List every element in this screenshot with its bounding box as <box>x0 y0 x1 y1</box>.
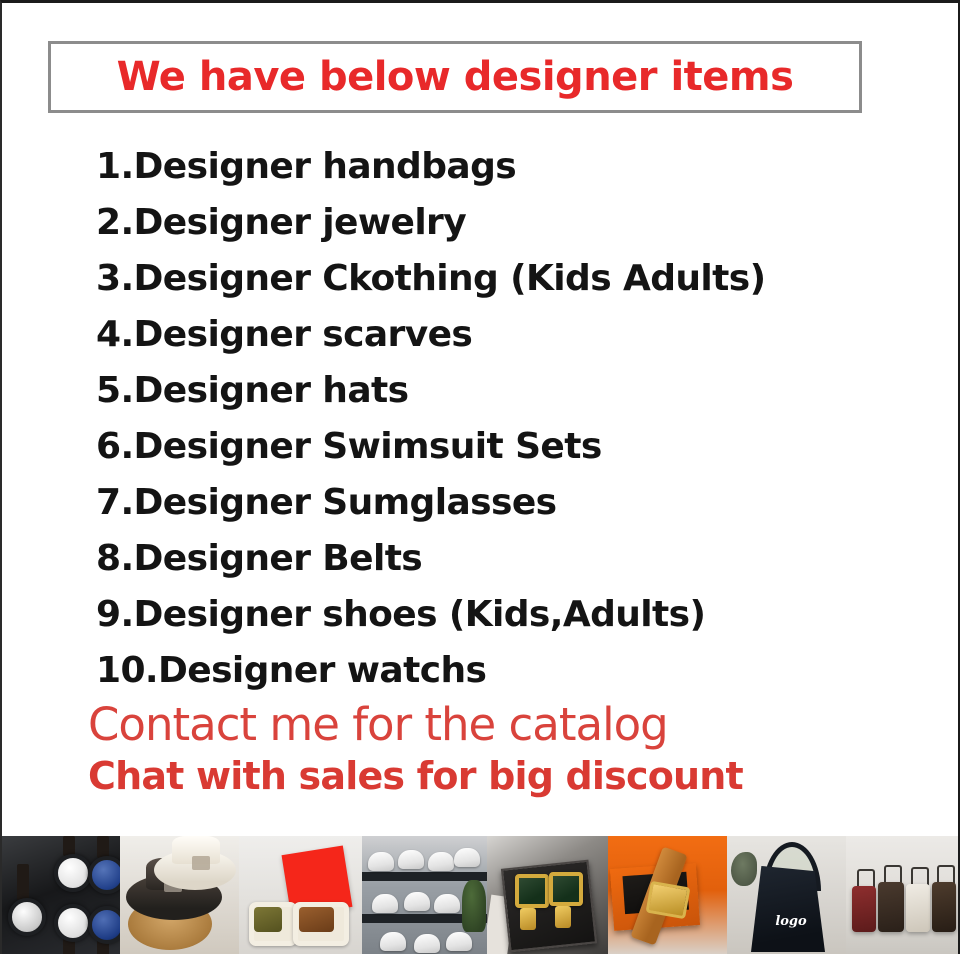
belt-buckle <box>646 881 691 919</box>
sneaker <box>428 852 454 871</box>
sneaker <box>404 892 430 911</box>
title-banner: We have below designer items <box>48 41 862 113</box>
sneaker <box>368 852 394 871</box>
shoes-photo <box>362 836 487 954</box>
suitcase <box>878 882 904 932</box>
sunglasses-photo <box>239 836 362 954</box>
list-item: 8.Designer Belts <box>96 531 856 587</box>
belts-photo <box>608 836 727 954</box>
list-item: 1.Designer handbags <box>96 139 856 195</box>
list-item: 5.Designer hats <box>96 363 856 419</box>
list-item: 7.Designer Sumglasses <box>96 475 856 531</box>
sneaker <box>380 932 406 951</box>
sneaker <box>454 848 480 867</box>
handbag-photo: logo <box>727 836 846 954</box>
watch-strap <box>97 836 109 858</box>
page-title: We have below designer items <box>117 57 794 97</box>
plant-decor <box>462 880 486 932</box>
list-item: 10.Designer watchs <box>96 643 856 699</box>
hats-photo <box>120 836 239 954</box>
chat-discount-text: Chat with sales for big discount <box>88 751 908 801</box>
sneaker <box>434 894 460 913</box>
jewelry-photo <box>487 836 608 954</box>
handbag-logo-text: logo <box>761 914 821 929</box>
suitcase <box>852 886 876 932</box>
sneaker <box>414 934 440 953</box>
designer-items-list: 1.Designer handbags 2.Designer jewelry 3… <box>96 139 856 699</box>
sunglass-lens <box>299 907 334 932</box>
watch-dial <box>54 854 92 892</box>
watches-photo <box>2 836 120 954</box>
flyer-content: We have below designer items 1.Designer … <box>2 3 958 836</box>
suitcase <box>932 882 956 932</box>
earring <box>549 872 583 906</box>
list-item: 9.Designer shoes (Kids,Adults) <box>96 587 856 643</box>
plant-decor <box>731 852 757 886</box>
watch-dial <box>54 904 92 942</box>
list-item: 2.Designer jewelry <box>96 195 856 251</box>
gold-charm <box>555 906 571 928</box>
sneaker <box>446 932 472 951</box>
watch-dial <box>88 856 120 894</box>
product-photo-strip: logo <box>2 836 958 954</box>
gold-charm <box>520 908 536 930</box>
sneaker <box>398 850 424 869</box>
earring <box>515 874 549 908</box>
luggage-photo <box>846 836 958 954</box>
sneaker <box>372 894 398 913</box>
hat-label-tag <box>192 856 210 870</box>
sunglass-lens <box>254 907 282 932</box>
promo-flyer: We have below designer items 1.Designer … <box>0 0 960 954</box>
contact-catalog-text: Contact me for the catalog <box>88 697 908 753</box>
watch-dial <box>88 906 120 944</box>
watch-dial <box>8 898 46 936</box>
call-to-action: Contact me for the catalog Chat with sal… <box>88 697 908 801</box>
handbag-body <box>751 866 825 952</box>
list-item: 4.Designer scarves <box>96 307 856 363</box>
watch-strap <box>17 864 29 900</box>
list-item: 3.Designer Ckothing (Kids Adults) <box>96 251 856 307</box>
list-item: 6.Designer Swimsuit Sets <box>96 419 856 475</box>
suitcase <box>906 884 930 932</box>
watch-strap <box>63 836 75 856</box>
